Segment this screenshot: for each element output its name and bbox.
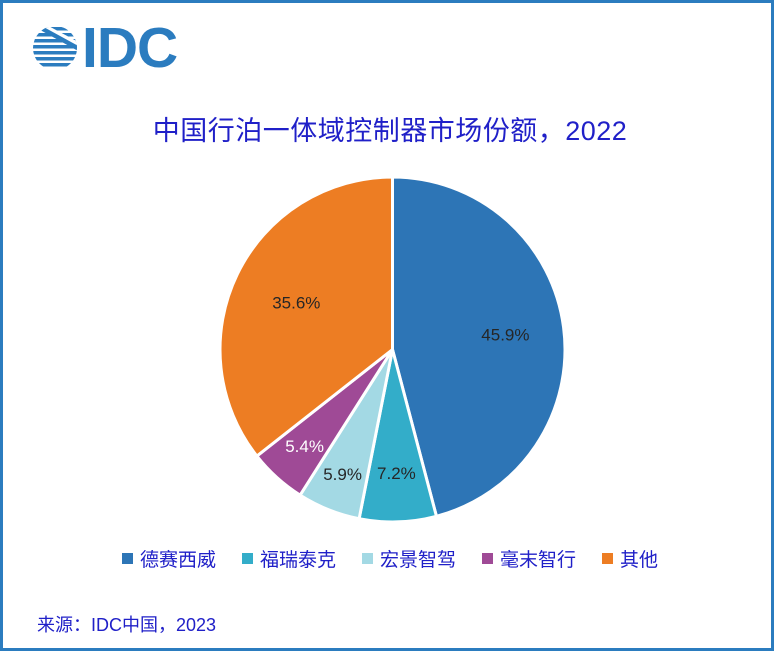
legend-item[interactable]: 其他 xyxy=(602,545,658,572)
legend-item[interactable]: 福瑞泰克 xyxy=(242,545,336,572)
pie-slice-label: 5.4% xyxy=(285,437,324,456)
legend-swatch-icon xyxy=(242,553,253,564)
legend-item-label: 德赛西威 xyxy=(140,545,216,572)
legend-swatch-icon xyxy=(362,553,373,564)
legend-item[interactable]: 毫末智行 xyxy=(482,545,576,572)
legend-item[interactable]: 德赛西威 xyxy=(122,545,216,572)
idc-globe-icon xyxy=(30,23,80,73)
legend-item-label: 宏景智驾 xyxy=(380,545,456,572)
legend-item[interactable]: 宏景智驾 xyxy=(362,545,456,572)
legend-item-label: 其他 xyxy=(620,545,658,572)
pie-chart: 45.9%7.2%5.9%5.4%35.6% xyxy=(220,177,565,522)
legend-swatch-icon xyxy=(122,553,133,564)
legend-swatch-icon xyxy=(482,553,493,564)
pie-slice-label: 45.9% xyxy=(481,325,529,344)
idc-wordmark: IDC xyxy=(82,20,177,77)
idc-logo: IDC xyxy=(30,19,177,77)
legend-item-label: 福瑞泰克 xyxy=(260,545,336,572)
pie-slice-label: 7.2% xyxy=(377,464,416,483)
legend-swatch-icon xyxy=(602,553,613,564)
chart-title: 中国行泊一体域控制器市场份额，2022 xyxy=(3,109,774,148)
pie-slice-label: 35.6% xyxy=(272,293,320,312)
chart-page: IDC 中国行泊一体域控制器市场份额，2022 45.9%7.2%5.9%5.4… xyxy=(0,0,774,651)
pie-chart-svg: 45.9%7.2%5.9%5.4%35.6% xyxy=(220,177,565,522)
pie-slice-label: 5.9% xyxy=(323,465,362,484)
chart-legend: 德赛西威福瑞泰克宏景智驾毫末智行其他 xyxy=(3,545,774,572)
legend-item-label: 毫末智行 xyxy=(500,545,576,572)
source-note: 来源：IDC中国，2023 xyxy=(37,611,216,637)
